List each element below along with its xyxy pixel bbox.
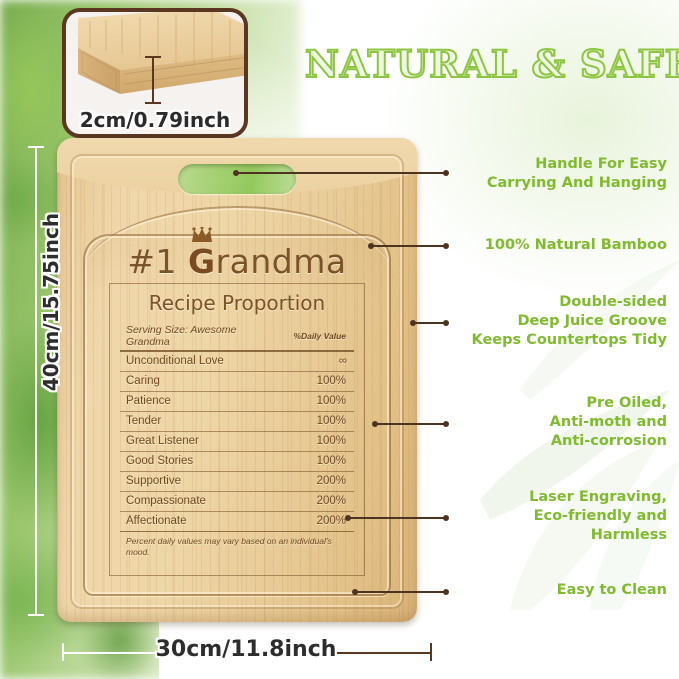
callout-dot-text-3	[443, 320, 449, 326]
nutrition-row-value: ∞	[278, 351, 354, 372]
nutrition-row-value: 100%	[278, 391, 354, 411]
callout-dot-text-2	[443, 243, 449, 249]
width-cap-left	[62, 643, 64, 661]
nutrition-footnote: Percent daily values may vary based on a…	[120, 531, 354, 559]
nutrition-row: Supportive200%	[120, 471, 354, 491]
recipe-subtitle: Recipe Proportion	[120, 291, 354, 315]
crown-icon	[191, 227, 213, 243]
callout-dot-text-1	[443, 170, 449, 176]
thickness-measure-bar	[152, 56, 154, 104]
callout-label-handle: Handle For Easy Carrying And Hanging	[452, 155, 667, 193]
callout-line-3	[413, 322, 445, 324]
callout-dot-text-4	[443, 421, 449, 427]
nutrition-row: Tender100%	[120, 411, 354, 431]
serving-size-label: Serving Size: Awesome Grandma	[120, 320, 278, 351]
corner-thickness-inset: 2cm/0.79inch	[62, 8, 248, 138]
page-title: NATURAL & SAFE	[305, 38, 665, 90]
thickness-label: 2cm/0.79inch	[66, 108, 244, 132]
callout-label-easy-clean: Easy to Clean	[452, 581, 667, 600]
nutrition-row-value: 200%	[278, 491, 354, 511]
nutrition-row-value: 100%	[278, 431, 354, 451]
nutrition-row-value: 100%	[278, 451, 354, 471]
headline-prefix: #1	[127, 242, 188, 281]
callout-line-1	[236, 172, 445, 174]
recipe-card: Recipe Proportion Serving Size: Awesome …	[109, 283, 365, 576]
nutrition-row: Affectionate200%	[120, 511, 354, 531]
infographic-canvas: NATURAL & SAFE	[0, 0, 679, 679]
board-headline: #1 Grandma	[57, 242, 417, 281]
callout-line-5	[348, 517, 445, 519]
nutrition-row: Good Stories100%	[120, 451, 354, 471]
height-cap-bottom	[28, 614, 44, 616]
nutrition-row: Caring100%	[120, 371, 354, 391]
callout-dot-text-6	[443, 589, 449, 595]
height-dimension-line	[35, 146, 37, 616]
callout-dot-text-5	[443, 515, 449, 521]
width-cap-right	[430, 643, 432, 661]
nutrition-row-label: Good Stories	[120, 451, 278, 471]
nutrition-row-label: Tender	[120, 411, 278, 431]
nutrition-row-label: Supportive	[120, 471, 278, 491]
callout-line-4	[375, 423, 445, 425]
headline-crowned-letter: G	[188, 242, 216, 281]
width-dimension-label: 30cm/11.8inch	[146, 637, 346, 662]
width-dimension-line-left	[62, 652, 158, 654]
thickness-cap-top	[145, 56, 161, 58]
board-surface: #1 Grandma Recipe Proportion Serving Siz…	[57, 138, 417, 622]
nutrition-row-label: Affectionate	[120, 511, 278, 531]
callout-line-6	[355, 591, 445, 593]
nutrition-row-label: Great Listener	[120, 431, 278, 451]
nutrition-header-row: Serving Size: Awesome Grandma%Daily Valu…	[120, 320, 354, 351]
daily-value-label: %Daily Value	[278, 320, 354, 351]
nutrition-table: Serving Size: Awesome Grandma%Daily Valu…	[120, 320, 354, 531]
nutrition-row-label: Compassionate	[120, 491, 278, 511]
nutrition-row: Patience100%	[120, 391, 354, 411]
nutrition-row-value: 100%	[278, 411, 354, 431]
callout-label-juice-groove: Double-sided Deep Juice Groove Keeps Cou…	[452, 293, 667, 350]
height-dimension-label: 40cm/15.75inch	[39, 207, 63, 397]
nutrition-row-value: 200%	[278, 511, 354, 531]
cutting-board: #1 Grandma Recipe Proportion Serving Siz…	[57, 138, 417, 622]
headline-g: G	[188, 242, 216, 281]
nutrition-row-label: Caring	[120, 371, 278, 391]
nutrition-row-value: 100%	[278, 371, 354, 391]
nutrition-row-value: 200%	[278, 471, 354, 491]
nutrition-row: Compassionate200%	[120, 491, 354, 511]
callout-label-laser-engraving: Laser Engraving, Eco-friendly and Harmle…	[452, 488, 667, 545]
headline-rest: randma	[216, 242, 347, 281]
nutrition-row-label: Unconditional Love	[120, 351, 278, 372]
nutrition-row: Unconditional Love∞	[120, 351, 354, 372]
nutrition-row: Great Listener100%	[120, 431, 354, 451]
callout-label-bamboo: 100% Natural Bamboo	[452, 236, 667, 255]
callout-line-2	[371, 245, 445, 247]
height-cap-top	[28, 146, 44, 148]
callout-label-pre-oiled: Pre Oiled, Anti-moth and Anti-corrosion	[452, 394, 667, 451]
nutrition-row-label: Patience	[120, 391, 278, 411]
thickness-cap-bottom	[145, 102, 161, 104]
